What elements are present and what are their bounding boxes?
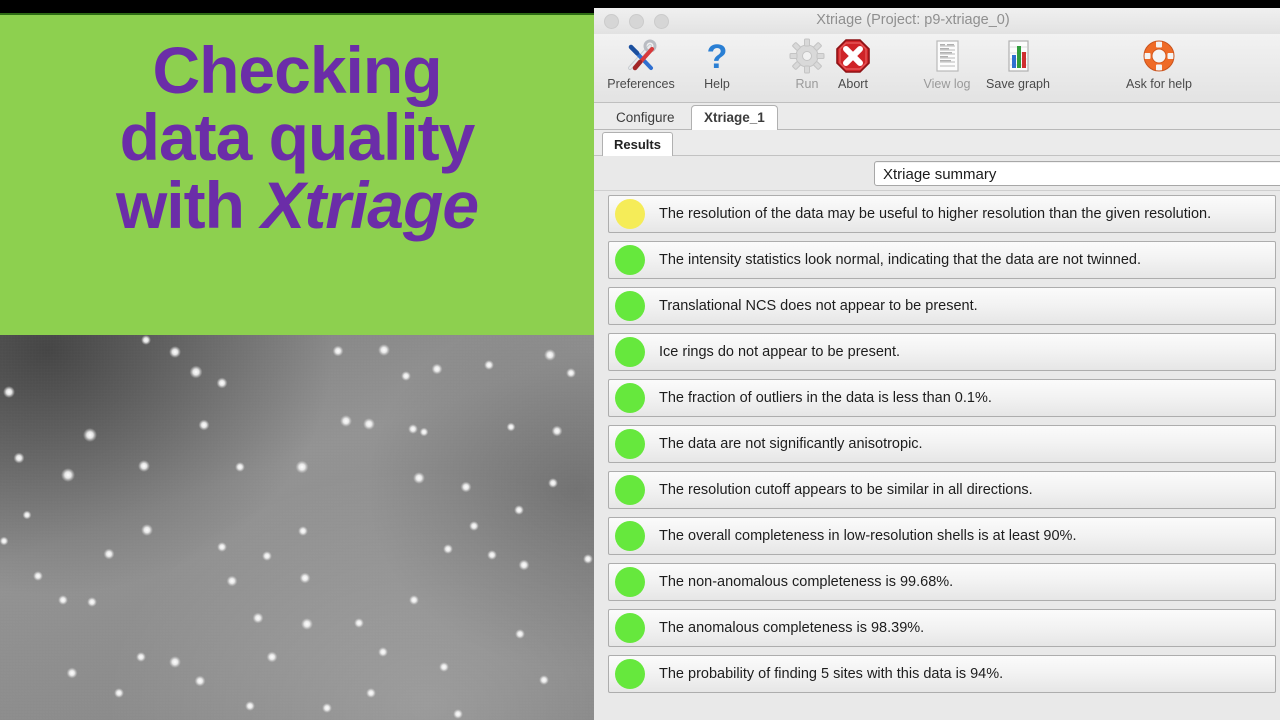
result-text: The overall completeness in low-resoluti… (659, 528, 1076, 544)
diffraction-image (0, 335, 594, 720)
toolbar-button-abort[interactable]: Abort (810, 36, 896, 91)
title-slide-panel: Checking data quality with Xtriage (0, 0, 594, 720)
result-row[interactable]: The data are not significantly anisotrop… (608, 425, 1276, 463)
status-badge (615, 567, 645, 597)
result-text: The resolution cutoff appears to be simi… (659, 482, 1033, 498)
toolbar-button-save-graph[interactable]: Save graph (975, 36, 1061, 91)
toolbar-label-preferences: Preferences (598, 77, 684, 91)
result-row[interactable]: The resolution of the data may be useful… (608, 195, 1276, 233)
result-row[interactable]: The intensity statistics look normal, in… (608, 241, 1276, 279)
status-badge (615, 245, 645, 275)
result-text: Ice rings do not appear to be present. (659, 344, 900, 360)
window-title: Xtriage (Project: p9-xtriage_0) (594, 12, 1232, 28)
status-badge (615, 475, 645, 505)
result-text: The anomalous completeness is 98.39%. (659, 620, 924, 636)
title-emphasis: Xtriage (261, 168, 478, 242)
title-line-2: data quality (0, 104, 594, 171)
result-row[interactable]: The resolution cutoff appears to be simi… (608, 471, 1276, 509)
summary-select-row: Xtriage summary (594, 156, 1280, 191)
toolbar-label-save-graph: Save graph (975, 77, 1061, 91)
svg-text:?: ? (707, 38, 728, 74)
result-row[interactable]: Translational NCS does not appear to be … (608, 287, 1276, 325)
stop-octagon-icon (810, 36, 896, 76)
toolbar-button-help[interactable]: ? Help (674, 36, 760, 91)
result-text: Translational NCS does not appear to be … (659, 298, 978, 314)
tab-xtriage-1[interactable]: Xtriage_1 (691, 105, 778, 130)
results-list: The resolution of the data may be useful… (594, 191, 1280, 720)
sub-tab-bar: Results (594, 130, 1280, 156)
toolbar-button-ask-for-help[interactable]: Ask for help (1104, 36, 1214, 91)
title-line-1: Checking (0, 37, 594, 104)
bar-chart-document-icon (975, 36, 1061, 76)
title-line-3-text: with (116, 168, 261, 242)
xtriage-application-window: Xtriage (Project: p9-xtriage_0) Preferen… (594, 8, 1280, 720)
status-badge (615, 613, 645, 643)
status-badge (615, 659, 645, 689)
result-row[interactable]: The anomalous completeness is 98.39%. (608, 609, 1276, 647)
diffraction-spots (0, 335, 594, 720)
result-text: The intensity statistics look normal, in… (659, 252, 1141, 268)
result-row[interactable]: The overall completeness in low-resoluti… (608, 517, 1276, 555)
tools-icon (598, 36, 684, 76)
main-tab-bar: Configure Xtriage_1 (594, 103, 1280, 130)
lifebuoy-icon (1104, 36, 1214, 76)
status-badge (615, 337, 645, 367)
xtriage-summary-dropdown[interactable]: Xtriage summary (874, 161, 1280, 186)
status-badge (615, 429, 645, 459)
status-badge (615, 199, 645, 229)
tab-configure[interactable]: Configure (604, 106, 687, 130)
screenshot-root: Checking data quality with Xtriage (0, 0, 1280, 720)
title-line-3: with Xtriage (0, 172, 594, 239)
black-letterbox-bar (0, 0, 594, 13)
window-titlebar: Xtriage (Project: p9-xtriage_0) (594, 8, 1280, 34)
status-badge (615, 521, 645, 551)
page-title: Checking data quality with Xtriage (0, 37, 594, 239)
result-row[interactable]: The fraction of outliers in the data is … (608, 379, 1276, 417)
result-row[interactable]: Ice rings do not appear to be present. (608, 333, 1276, 371)
result-text: The non-anomalous completeness is 99.68%… (659, 574, 953, 590)
title-card: Checking data quality with Xtriage (0, 15, 594, 335)
result-text: The resolution of the data may be useful… (659, 206, 1211, 222)
question-mark-icon: ? (674, 36, 760, 76)
result-row[interactable]: The probability of finding 5 sites with … (608, 655, 1276, 693)
result-text: The data are not significantly anisotrop… (659, 436, 923, 452)
toolbar-label-ask-for-help: Ask for help (1104, 77, 1214, 91)
status-badge (615, 291, 645, 321)
toolbar-label-help: Help (674, 77, 760, 91)
result-text: The fraction of outliers in the data is … (659, 390, 992, 406)
toolbar: Preferences ? Help (594, 34, 1280, 103)
result-text: The probability of finding 5 sites with … (659, 666, 1003, 682)
toolbar-label-abort: Abort (810, 77, 896, 91)
toolbar-button-preferences[interactable]: Preferences (598, 36, 684, 91)
status-badge (615, 383, 645, 413)
result-row[interactable]: The non-anomalous completeness is 99.68%… (608, 563, 1276, 601)
tab-results[interactable]: Results (602, 132, 673, 156)
